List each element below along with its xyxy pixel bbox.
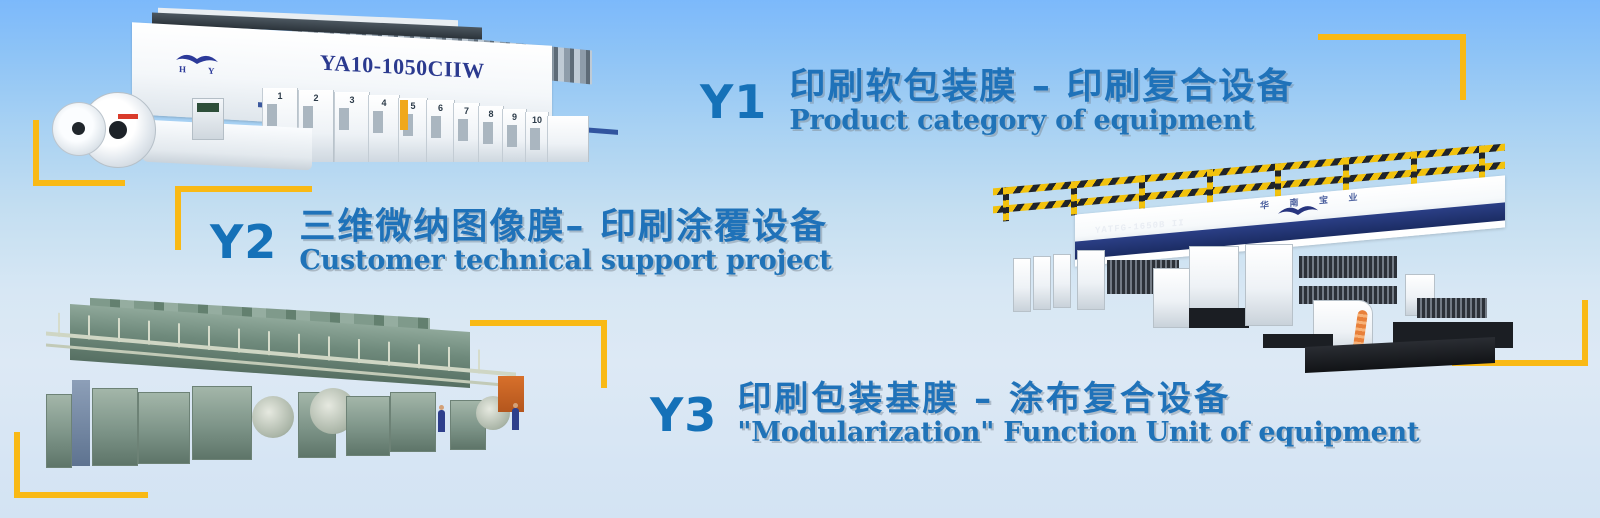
item-y3-code: Y3 bbox=[650, 388, 717, 442]
hy-logo-icon bbox=[1275, 200, 1321, 224]
item-y3-title-en: "Modularization" Function Unit of equipm… bbox=[737, 419, 1419, 447]
item-y1-title-en: Product category of equipment bbox=[789, 107, 1294, 135]
bracket-left-upper-horizontal bbox=[33, 180, 125, 186]
station-number: 8 bbox=[479, 109, 503, 119]
bracket-mid-upper-vertical bbox=[175, 186, 181, 250]
station-number: 10 bbox=[526, 115, 548, 125]
machine-photo-rotogravure-press: H Y YA10-1050CIIW 1 2 3 4 5 6 7 8 9 10 bbox=[62, 6, 622, 174]
item-y3: Y3 印刷包装基膜 – 涂布复合设备 "Modularization" Func… bbox=[650, 382, 1419, 447]
press-control-panel bbox=[192, 98, 224, 140]
machine-photo-laminator: YATFG-1650B II 华 南 宝 业 bbox=[985, 160, 1530, 375]
hy-logo-icon: H Y bbox=[172, 49, 222, 76]
station-number: 7 bbox=[454, 106, 479, 116]
item-y2-title-en: Customer technical support project bbox=[299, 247, 831, 275]
bracket-mid-left-vertical bbox=[601, 320, 607, 388]
station-number: 4 bbox=[369, 98, 399, 108]
bracket-mid-upper-horizontal bbox=[175, 186, 312, 192]
item-y2: Y2 三维微纳图像膜– 印刷涂覆设备 Customer technical su… bbox=[210, 208, 832, 275]
station-number: 3 bbox=[335, 95, 369, 105]
press-print-stations: 1 2 3 4 5 6 7 8 9 10 bbox=[262, 84, 612, 162]
bracket-left-upper-vertical bbox=[33, 120, 39, 186]
item-y2-code: Y2 bbox=[210, 215, 277, 269]
coater-worker bbox=[438, 410, 445, 432]
svg-text:Y: Y bbox=[208, 66, 215, 76]
item-y1-code: Y1 bbox=[700, 75, 767, 129]
bracket-top-right-vertical bbox=[1460, 34, 1466, 100]
bracket-top-right-horizontal bbox=[1318, 34, 1466, 40]
banner-root: H Y YA10-1050CIIW 1 2 3 4 5 6 7 8 9 10 bbox=[0, 0, 1600, 518]
press-red-marker bbox=[118, 114, 138, 119]
svg-text:H: H bbox=[179, 64, 186, 74]
press-lower-cabinet bbox=[142, 120, 312, 171]
coater-worker bbox=[512, 408, 519, 430]
station-number: 2 bbox=[299, 93, 333, 103]
station-number: 6 bbox=[427, 103, 454, 113]
bracket-bottom-right-vertical bbox=[1582, 300, 1588, 366]
station-number: 9 bbox=[503, 112, 526, 122]
item-y3-title-cn: 印刷包装基膜 – 涂布复合设备 bbox=[737, 382, 1419, 418]
bracket-bottom-left-vertical bbox=[14, 432, 20, 498]
press-secondary-reel bbox=[52, 102, 106, 156]
item-y1: Y1 印刷软包装膜 – 印刷复合设备 Product category of e… bbox=[700, 68, 1294, 135]
coater-lower-machinery bbox=[46, 370, 526, 468]
item-y2-title-cn: 三维微纳图像膜– 印刷涂覆设备 bbox=[299, 208, 831, 246]
machine-photo-coater bbox=[30, 308, 575, 488]
station-number: 1 bbox=[263, 91, 297, 101]
laminator-lower-units bbox=[1013, 238, 1513, 356]
bracket-bottom-left-horizontal bbox=[14, 492, 148, 498]
press-yellow-marker bbox=[400, 100, 408, 130]
item-y1-title-cn: 印刷软包装膜 – 印刷复合设备 bbox=[789, 68, 1294, 106]
